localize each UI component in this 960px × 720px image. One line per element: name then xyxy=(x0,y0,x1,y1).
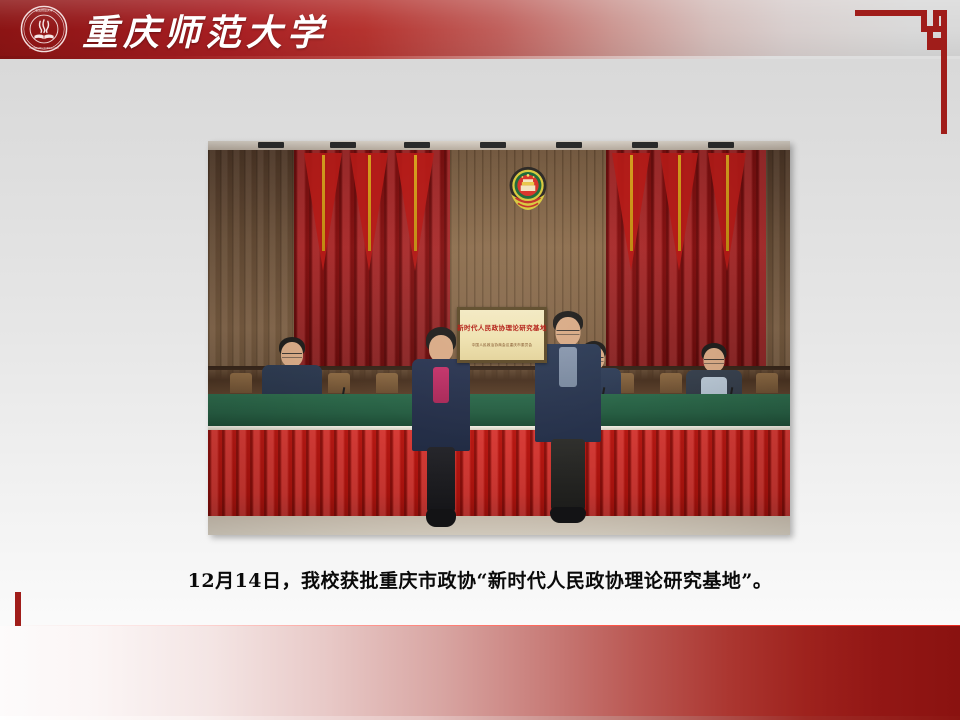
flag-pole xyxy=(726,155,729,251)
footer-base-line xyxy=(0,716,960,720)
footer-band xyxy=(0,626,960,717)
chair xyxy=(230,373,252,393)
svg-text:重庆师范大学: 重庆师范大学 xyxy=(35,8,52,13)
ceiling-light xyxy=(556,142,582,148)
ceremony-photo: 余多平 王洪光 xyxy=(208,141,790,535)
cppcc-emblem-icon xyxy=(505,163,551,219)
flag-pole xyxy=(414,155,417,251)
corner-ornament-top-right-icon xyxy=(855,8,950,134)
flag-pole xyxy=(368,155,371,251)
flag-pole xyxy=(678,155,681,251)
ceiling-light xyxy=(330,142,356,148)
university-name: 重庆师范大学 xyxy=(82,4,328,56)
chair xyxy=(660,373,682,393)
chair xyxy=(756,373,778,393)
plaque-title: 新时代人民政协理论研究基地 xyxy=(457,322,547,332)
ceiling-light xyxy=(404,142,430,148)
ceiling-light xyxy=(480,142,506,148)
slide-caption: 12月14日，我校获批重庆市政协“新时代人民政协理论研究基地”。 xyxy=(0,566,960,593)
stage-floor xyxy=(208,516,790,535)
flag-pole xyxy=(322,155,325,251)
header-underline xyxy=(0,56,960,59)
ceremony-photo-frame: 余多平 王洪光 xyxy=(208,141,790,535)
presentation-slide: 重庆师范大学 CHONGQING NORMAL UNIV 重庆师范大学 xyxy=(0,0,960,720)
ceiling-light xyxy=(708,142,734,148)
plaque-subtitle: 中国人民政治协商会议重庆市委员会 xyxy=(472,343,533,349)
university-seal-logo: 重庆师范大学 CHONGQING NORMAL UNIV xyxy=(20,5,68,53)
flag-pole xyxy=(630,155,633,251)
ceiling-light xyxy=(258,142,284,148)
conference-table-top xyxy=(208,394,790,428)
svg-text:CHONGQING NORMAL UNIV: CHONGQING NORMAL UNIV xyxy=(29,47,59,50)
chair xyxy=(376,373,398,393)
ceiling-light xyxy=(632,142,658,148)
award-plaque: 新时代人民政协理论研究基地 中国人民政治协商会议重庆市委员会 xyxy=(457,307,547,363)
chair xyxy=(328,373,350,393)
